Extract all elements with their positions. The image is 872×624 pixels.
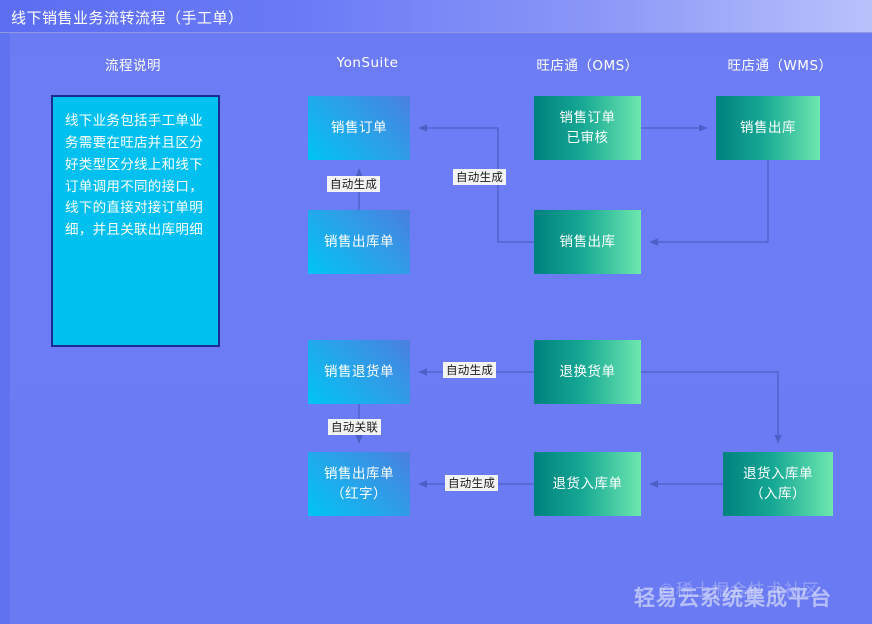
edge-label-auto-generate-1: 自动生成 [327,176,380,192]
edge-return-exchange-to-wms-inbound [641,372,778,443]
title-bar: 线下销售业务流转流程（手工单） [0,0,872,33]
page-title: 线下销售业务流转流程（手工单） [11,7,244,28]
node-sales-outbound-wms[interactable]: 销售出库 [716,96,820,160]
node-return-inbound-wms[interactable]: 退货入库单 （入库） [723,452,833,516]
edge-label-auto-relate: 自动关联 [328,419,381,435]
column-header-wdt-wms: 旺店通（WMS） [690,54,870,74]
diagram-canvas: 线下销售业务流转流程（手工单） 流程说明 YonSuite 旺店通（OMS） 旺… [0,0,872,624]
column-header-flow-desc: 流程说明 [48,54,218,74]
edge-wms-outbound-to-oms-outbound [650,160,768,242]
column-header-yonsuite: YonSuite [280,55,455,71]
edge-label-auto-generate-2: 自动生成 [453,169,506,185]
watermark-main: 轻易云系统集成平台 [634,582,832,612]
node-sales-order[interactable]: 销售订单 [308,96,410,160]
edge-label-auto-generate-3: 自动生成 [443,362,496,378]
node-sales-outbound-red[interactable]: 销售出库单 （红字） [308,452,410,516]
left-edge-strip [0,0,10,624]
node-return-exchange[interactable]: 退换货单 [534,340,641,404]
flow-description-box: 线下业务包括手工单业务需要在旺店并且区分好类型区分线上和线下订单调用不同的接口，… [51,95,220,347]
node-sales-outbound-doc[interactable]: 销售出库单 [308,210,410,274]
flow-description-text: 线下业务包括手工单业务需要在旺店并且区分好类型区分线上和线下订单调用不同的接口，… [65,111,206,242]
node-sales-outbound-oms[interactable]: 销售出库 [534,210,641,274]
node-return-inbound-doc[interactable]: 退货入库单 [534,452,641,516]
column-header-wdt-oms: 旺店通（OMS） [495,54,680,74]
node-sales-order-approved[interactable]: 销售订单 已审核 [534,96,641,160]
node-sales-return-doc[interactable]: 销售退货单 [308,340,410,404]
edge-label-auto-generate-4: 自动生成 [445,475,498,491]
